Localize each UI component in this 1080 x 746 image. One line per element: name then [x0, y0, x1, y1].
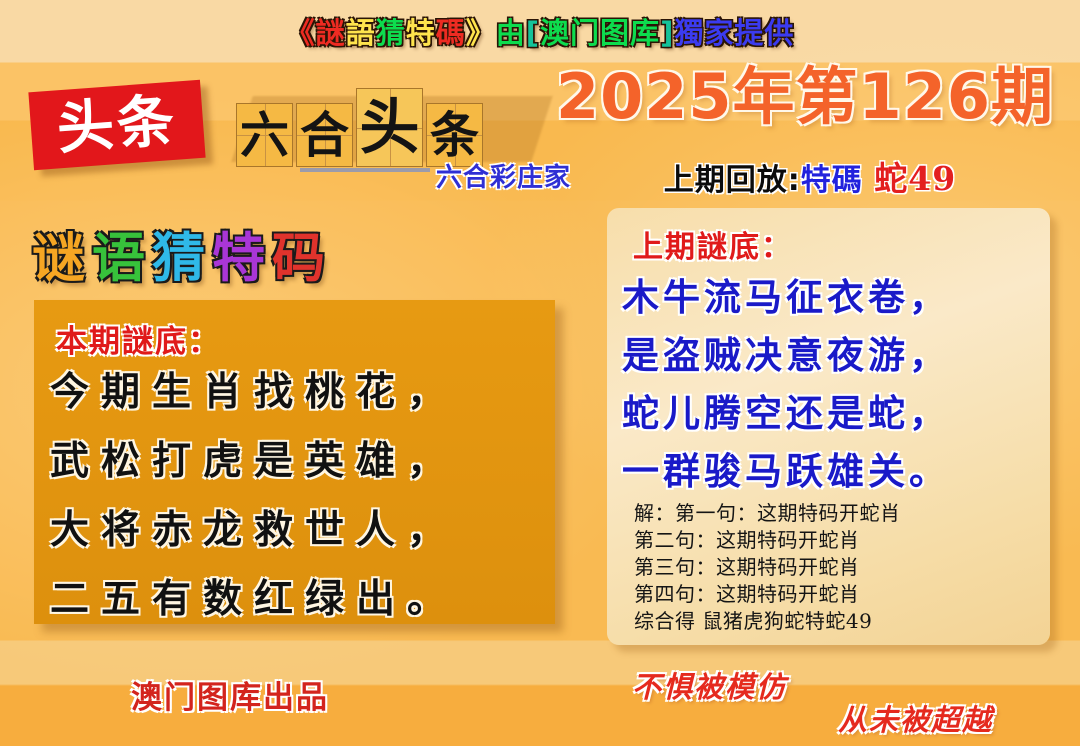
marquee-glyph-15: 家	[704, 10, 734, 52]
explanation-line-2: 第三句：这期特码开蛇肖	[634, 554, 1034, 581]
marquee-glyph-6: 》	[466, 10, 496, 52]
footer-slogan-1: 不惧被模仿	[632, 664, 787, 706]
marquee-glyph-5: 碼	[436, 10, 466, 52]
marquee-glyph-7: 由	[496, 10, 526, 52]
previous-riddle-line-2: 蛇儿腾空还是蛇，	[622, 384, 1052, 442]
tile-char-0: 六	[237, 104, 292, 166]
explanation-line-0: 解：第一句：这期特码开蛇肖	[634, 500, 1034, 527]
marquee-glyph-17: 供	[764, 10, 794, 52]
tile-0: 六	[236, 103, 293, 167]
previous-riddle-title: 上期謎底：	[633, 222, 793, 266]
current-riddle-lines: 今期生肖找桃花，武松打虎是英雄，大将赤龙救世人，二五有数红绿出。	[50, 358, 550, 634]
poster-canvas: 《謎語猜特碼》由 [澳门图库] 獨家提供 头条 六合头条 六合彩庄家 2025年…	[0, 0, 1080, 746]
tile-char-2: 头	[357, 89, 422, 166]
current-riddle-title: 本期謎底：	[56, 316, 221, 361]
recall-number: 蛇49	[874, 159, 956, 198]
tile-char-1: 合	[297, 104, 352, 166]
previous-riddle-line-3: 一群骏马跃雄关。	[622, 442, 1052, 500]
headline-badge: 头条	[28, 80, 205, 170]
marquee-glyph-14: 獨	[674, 10, 704, 52]
marquee-glyph-2: 語	[346, 10, 376, 52]
rainbow-heading: 谜语猜特码	[32, 232, 332, 285]
marquee-glyph-9: 澳	[540, 10, 570, 52]
footer-brand: 澳门图库出品	[60, 672, 400, 717]
marquee-glyph-16: 提	[734, 10, 764, 52]
tile-char-3: 条	[427, 104, 482, 166]
tile-word-group: 六合头条	[236, 88, 486, 167]
marquee-glyph-11: 图	[600, 10, 630, 52]
recall-label: 上期回放:	[664, 163, 801, 198]
recall-special-label: 特碼	[801, 163, 863, 198]
tile-1: 合	[296, 103, 353, 167]
rainbow-glyph-0: 谜	[32, 232, 92, 285]
previous-draw-recall: 上期回放:特碼 蛇49	[560, 152, 1060, 200]
marquee-glyph-3: 猜	[376, 10, 406, 52]
headline-badge-label: 头条	[55, 92, 179, 158]
issue-period-title: 2025年第126期	[540, 66, 1070, 128]
marquee-glyph-0: 《	[286, 10, 316, 52]
marquee-glyph-13: ]	[660, 16, 674, 50]
previous-riddle-line-1: 是盗贼决意夜游，	[622, 326, 1052, 384]
previous-riddle-line-0: 木牛流马征衣卷，	[622, 268, 1052, 326]
rainbow-glyph-1: 语	[92, 232, 152, 285]
previous-riddle-lines: 木牛流马征衣卷，是盗贼决意夜游，蛇儿腾空还是蛇，一群骏马跃雄关。	[622, 268, 1052, 500]
rainbow-glyph-4: 码	[272, 232, 332, 285]
marquee-glyph-8: [	[526, 16, 540, 50]
explanation-block: 解：第一句：这期特码开蛇肖第二句：这期特码开蛇肖第三句：这期特码开蛇肖第四句：这…	[634, 500, 1034, 635]
current-riddle-line-0: 今期生肖找桃花，	[50, 358, 550, 427]
rainbow-glyph-3: 特	[212, 232, 272, 285]
marquee-glyph-12: 库	[630, 10, 660, 52]
explanation-line-4: 综合得 鼠猪虎狗蛇特蛇49	[634, 608, 1034, 635]
marquee-glyph-1: 謎	[316, 10, 346, 52]
current-riddle-line-2: 大将赤龙救世人，	[50, 496, 550, 565]
tile-2: 头	[356, 88, 423, 167]
current-riddle-line-3: 二五有数红绿出。	[50, 565, 550, 634]
top-marquee-text: 《謎語猜特碼》由 [澳门图库] 獨家提供	[0, 10, 1080, 52]
marquee-glyph-4: 特	[406, 10, 436, 52]
footer-slogan-2: 从未被超越	[838, 697, 993, 739]
explanation-line-3: 第四句：这期特码开蛇肖	[634, 581, 1034, 608]
subtitle-rule	[300, 168, 430, 172]
marquee-glyph-10: 门	[570, 10, 600, 52]
explanation-line-1: 第二句：这期特码开蛇肖	[634, 527, 1034, 554]
current-riddle-line-1: 武松打虎是英雄，	[50, 427, 550, 496]
tile-3: 条	[426, 103, 483, 167]
rainbow-glyph-2: 猜	[152, 232, 212, 285]
